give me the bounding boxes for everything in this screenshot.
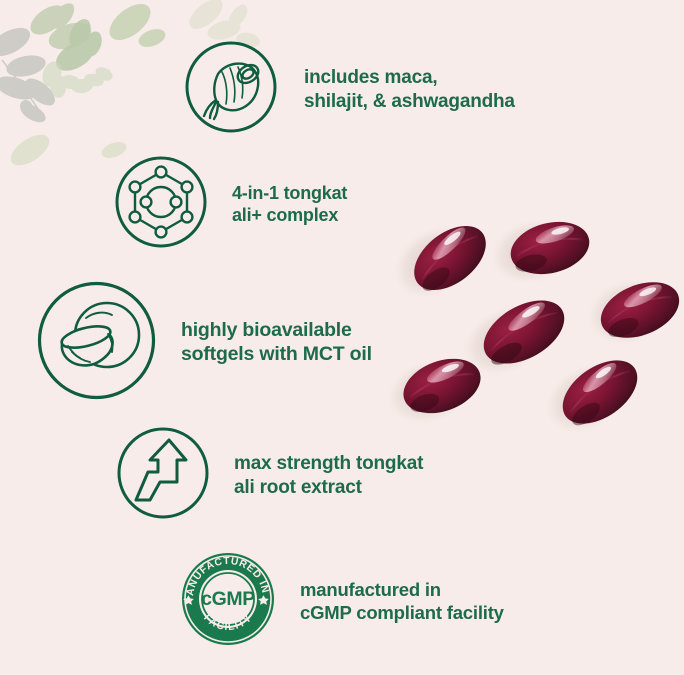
feature-row-max-strength-extract: max strength tongkat ali root extract — [114, 424, 423, 527]
cgmp-seal-icon: MANUFACTURED IN A FACILITY cGMP — [178, 549, 278, 654]
feature-label: max strength tongkat ali root extract — [234, 452, 423, 498]
feature-label: 4-in-1 tongkat ali+ complex — [232, 183, 347, 227]
feature-label: manufactured in cGMP compliant facility — [300, 579, 504, 624]
up-arrow-icon — [114, 424, 212, 527]
molecule-ring-icon — [112, 153, 210, 256]
feature-row-maca-shilajit-ashwagandha: includes maca, shilajit, & ashwagandha — [182, 38, 515, 141]
coconut-icon — [34, 278, 159, 408]
feature-row-cgmp-facility: MANUFACTURED IN A FACILITY cGMP manufact… — [178, 549, 504, 654]
softgel-capsules-image — [378, 200, 684, 445]
feature-row-tongkat-ali-complex: 4-in-1 tongkat ali+ complex — [112, 153, 347, 256]
infographic-canvas: includes maca, shilajit, & ashwagandha — [0, 0, 684, 675]
feature-label: highly bioavailable softgels with MCT oi… — [181, 319, 372, 367]
maca-root-icon — [182, 38, 280, 141]
feature-label: includes maca, shilajit, & ashwagandha — [304, 66, 515, 112]
seal-center-label: cGMP — [201, 588, 255, 610]
feature-row-bioavailable-softgels: highly bioavailable softgels with MCT oi… — [34, 278, 372, 408]
